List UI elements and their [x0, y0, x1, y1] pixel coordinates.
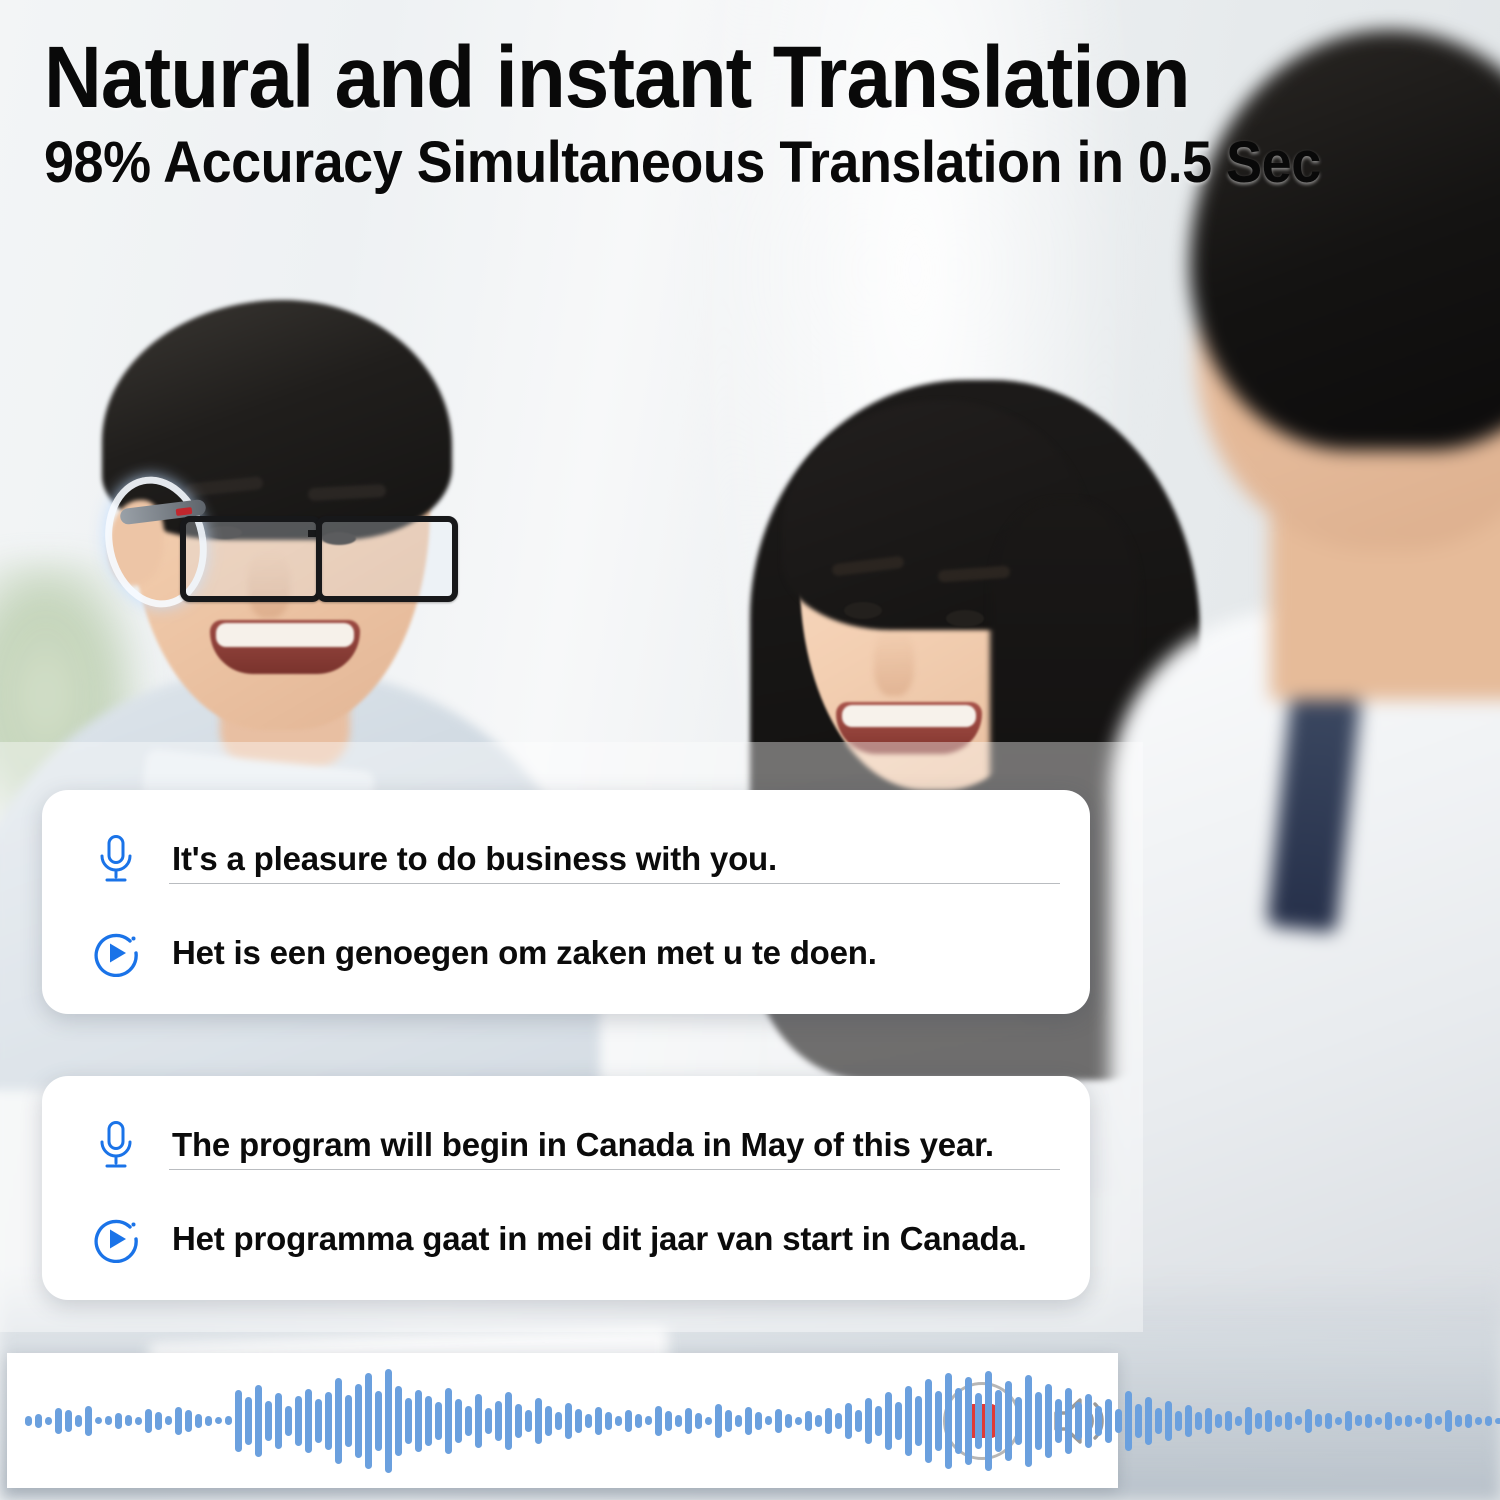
- waveform-bar: [415, 1390, 422, 1452]
- waveform-bar: [345, 1395, 352, 1447]
- waveform-bar: [935, 1391, 942, 1451]
- waveform-bar: [1085, 1394, 1092, 1448]
- waveform-bar: [445, 1388, 452, 1454]
- headline-block: Natural and instant Translation 98% Accu…: [44, 34, 1464, 196]
- waveform-bar: [925, 1379, 932, 1463]
- waveform-bar: [475, 1394, 482, 1448]
- person-man-right-blurred: [1130, 10, 1500, 1310]
- waveform-bar: [295, 1396, 302, 1446]
- waveform-bar: [1205, 1408, 1212, 1434]
- waveform-bar: [975, 1393, 982, 1449]
- waveform-bar: [945, 1373, 952, 1469]
- waveform-bar: [315, 1399, 322, 1443]
- waveform-bar: [225, 1416, 232, 1425]
- waveform-bar: [275, 1393, 282, 1449]
- waveform-bar: [1165, 1401, 1172, 1441]
- waveform-bar: [1255, 1413, 1262, 1429]
- waveform-bar: [1185, 1405, 1192, 1437]
- waveform-bar: [585, 1414, 592, 1428]
- target-text: Het programma gaat in mei dit jaar van s…: [172, 1220, 1027, 1258]
- woman-eye-right: [946, 610, 984, 627]
- man-left-mouth: [210, 620, 360, 674]
- translation-card[interactable]: It's a pleasure to do business with you.…: [42, 790, 1090, 1014]
- waveform-bar: [1325, 1413, 1332, 1429]
- waveform-bar: [785, 1414, 792, 1428]
- waveform-bar: [265, 1401, 272, 1441]
- waveform-bar: [1135, 1404, 1142, 1438]
- waveform-bar: [1055, 1399, 1062, 1443]
- woman-teeth: [842, 705, 976, 727]
- waveform-bar: [1225, 1411, 1232, 1431]
- target-text: Het is een genoegen om zaken met u te do…: [172, 934, 877, 972]
- waveform-bar: [575, 1409, 582, 1433]
- waveform-bar: [545, 1406, 552, 1436]
- audio-recorder-bar[interactable]: [7, 1353, 1118, 1488]
- waveform-bar: [395, 1386, 402, 1456]
- waveform-bar: [215, 1417, 222, 1424]
- waveform-bar: [335, 1378, 342, 1464]
- waveform-bar: [45, 1417, 52, 1425]
- waveform-bar: [1145, 1397, 1152, 1445]
- waveform-bar: [165, 1416, 172, 1425]
- waveform-bar: [75, 1415, 82, 1427]
- waveform-bar: [525, 1410, 532, 1432]
- waveform-bar: [745, 1407, 752, 1435]
- smart-glasses: [128, 500, 448, 592]
- waveform-bar: [1175, 1411, 1182, 1431]
- glasses-lens-right: [316, 516, 458, 602]
- waveform-bar: [195, 1414, 202, 1428]
- waveform-bar: [615, 1416, 622, 1426]
- waveform-bar: [735, 1415, 742, 1427]
- waveform-bar: [1105, 1399, 1112, 1443]
- waveform-bar: [965, 1377, 972, 1465]
- waveform-bar: [1065, 1388, 1072, 1454]
- waveform-bar: [135, 1417, 142, 1425]
- waveform-bar: [1375, 1417, 1382, 1425]
- waveform-bar: [1125, 1391, 1132, 1451]
- waveform-bar: [595, 1407, 602, 1435]
- waveform-bar: [675, 1415, 682, 1427]
- waveform-bar: [685, 1408, 692, 1434]
- waveform-bar: [1275, 1415, 1282, 1427]
- waveform-bar: [515, 1404, 522, 1438]
- source-text: The program will begin in Canada in May …: [172, 1126, 994, 1164]
- waveform-bar: [95, 1417, 102, 1424]
- waveform-bar: [1115, 1409, 1122, 1433]
- waveform-bar: [1315, 1414, 1322, 1427]
- waveform-bar: [375, 1391, 382, 1451]
- target-row[interactable]: Het programma gaat in mei dit jaar van s…: [42, 1200, 1090, 1278]
- waveform-bar: [185, 1410, 192, 1432]
- waveform-bar: [625, 1410, 632, 1432]
- waveform-bar: [385, 1369, 392, 1473]
- waveform-bar: [815, 1415, 822, 1427]
- waveform-bar: [1485, 1416, 1492, 1426]
- waveform-bar: [1385, 1412, 1392, 1430]
- waveform-bar: [915, 1396, 922, 1446]
- waveform-bar: [1215, 1414, 1222, 1428]
- waveform-bar: [1075, 1402, 1082, 1440]
- waveform-bar: [1245, 1407, 1252, 1435]
- play-circle-icon[interactable]: [90, 929, 142, 977]
- waveform-bar: [1265, 1410, 1272, 1432]
- card-divider: [169, 883, 1060, 884]
- waveform-bar: [655, 1406, 662, 1436]
- waveform-bar: [875, 1406, 882, 1436]
- waveform-bar: [365, 1373, 372, 1469]
- source-text: It's a pleasure to do business with you.: [172, 840, 777, 878]
- waveform-bar: [995, 1390, 1002, 1452]
- waveform-bar: [355, 1384, 362, 1458]
- waveform-bar: [765, 1416, 772, 1425]
- waveform-bar: [115, 1413, 122, 1429]
- waveform-bar: [1015, 1397, 1022, 1445]
- waveform-bar: [455, 1399, 462, 1443]
- waveform-bar: [895, 1402, 902, 1440]
- microphone-icon[interactable]: [90, 1121, 142, 1169]
- waveform-bar: [1355, 1415, 1362, 1426]
- woman-eye-left: [844, 602, 882, 619]
- waveform-bar: [905, 1386, 912, 1456]
- waveform-bar: [715, 1404, 722, 1438]
- waveform-bar: [1345, 1411, 1352, 1431]
- waveform-bar: [125, 1415, 132, 1426]
- page-title: Natural and instant Translation: [44, 34, 1350, 121]
- waveform-bar: [535, 1398, 542, 1444]
- waveform-bar: [255, 1385, 262, 1457]
- waveform-bar: [1365, 1414, 1372, 1428]
- waveform-bar: [435, 1402, 442, 1440]
- waveform-bar: [1095, 1406, 1102, 1436]
- waveform-bar: [495, 1401, 502, 1441]
- waveform-bar: [155, 1412, 162, 1430]
- waveform-bar: [205, 1416, 212, 1426]
- microphone-icon[interactable]: [90, 835, 142, 883]
- waveform-bar: [1435, 1416, 1442, 1425]
- waveform-bar: [555, 1412, 562, 1430]
- waveform-bar: [775, 1409, 782, 1433]
- waveform-bar: [325, 1392, 332, 1450]
- waveform-bar: [725, 1410, 732, 1432]
- waveform-bar: [1005, 1381, 1012, 1461]
- waveform-bar: [85, 1406, 92, 1436]
- waveform-bar: [855, 1410, 862, 1432]
- waveform-bar: [1045, 1384, 1052, 1458]
- waveform-bar: [665, 1411, 672, 1431]
- waveform-bar: [1475, 1417, 1482, 1425]
- waveform-bar: [755, 1412, 762, 1430]
- waveform-bar: [1495, 1418, 1500, 1424]
- waveform-bar: [1445, 1410, 1452, 1432]
- waveform-bar: [35, 1414, 42, 1428]
- card-divider: [169, 1169, 1060, 1170]
- waveform-bar: [25, 1416, 32, 1426]
- waveform-bar: [865, 1398, 872, 1444]
- waveform-bar: [835, 1413, 842, 1429]
- waveform-bar: [795, 1417, 802, 1425]
- waveform-bar: [805, 1411, 812, 1431]
- waveform-bar: [705, 1417, 712, 1425]
- waveform-bar: [985, 1371, 992, 1471]
- waveform-bar: [145, 1409, 152, 1433]
- waveform-bar: [885, 1392, 892, 1450]
- waveform-bar: [505, 1392, 512, 1450]
- waveform-bar: [1195, 1412, 1202, 1430]
- waveform-bar: [245, 1397, 252, 1445]
- man-left-teeth: [216, 623, 354, 647]
- waveform-bar: [645, 1416, 652, 1425]
- waveform-bar: [825, 1408, 832, 1434]
- source-row[interactable]: It's a pleasure to do business with you.: [42, 820, 1090, 898]
- audio-waveform[interactable]: [25, 1353, 925, 1488]
- waveform-bar: [1395, 1416, 1402, 1426]
- waveform-bar: [1235, 1416, 1242, 1426]
- waveform-bar: [1465, 1414, 1472, 1428]
- waveform-bar: [285, 1406, 292, 1436]
- glasses-lens-left: [180, 516, 322, 602]
- waveform-bar: [955, 1388, 962, 1454]
- woman-nose: [874, 630, 914, 696]
- play-circle-icon[interactable]: [90, 1215, 142, 1263]
- target-row[interactable]: Het is een genoegen om zaken met u te do…: [42, 914, 1090, 992]
- waveform-bar: [1025, 1375, 1032, 1467]
- waveform-bar: [55, 1408, 62, 1434]
- waveform-bar: [1035, 1392, 1042, 1450]
- waveform-bar: [635, 1414, 642, 1428]
- waveform-bar: [1295, 1416, 1302, 1425]
- page-subtitle: 98% Accuracy Simultaneous Translation in…: [44, 131, 1365, 196]
- waveform-bar: [1335, 1417, 1342, 1425]
- waveform-bar: [425, 1396, 432, 1446]
- waveform-bar: [105, 1416, 112, 1425]
- waveform-bar: [1415, 1417, 1422, 1424]
- waveform-bar: [175, 1407, 182, 1435]
- waveform-bar: [695, 1413, 702, 1429]
- waveform-bar: [1425, 1413, 1432, 1429]
- waveform-bar: [405, 1398, 412, 1444]
- waveform-bar: [565, 1403, 572, 1439]
- waveform-bar: [485, 1408, 492, 1434]
- waveform-bar: [1455, 1415, 1462, 1427]
- waveform-bar: [845, 1403, 852, 1439]
- source-row[interactable]: The program will begin in Canada in May …: [42, 1106, 1090, 1184]
- waveform-bar: [235, 1390, 242, 1452]
- waveform-bar: [1155, 1408, 1162, 1434]
- translation-card[interactable]: The program will begin in Canada in May …: [42, 1076, 1090, 1300]
- waveform-bar: [305, 1389, 312, 1453]
- waveform-bar: [605, 1412, 612, 1430]
- waveform-bar: [1285, 1412, 1292, 1430]
- waveform-bar: [65, 1410, 72, 1432]
- waveform-bar: [1305, 1409, 1312, 1433]
- waveform-bar: [465, 1406, 472, 1436]
- waveform-bar: [1405, 1415, 1412, 1427]
